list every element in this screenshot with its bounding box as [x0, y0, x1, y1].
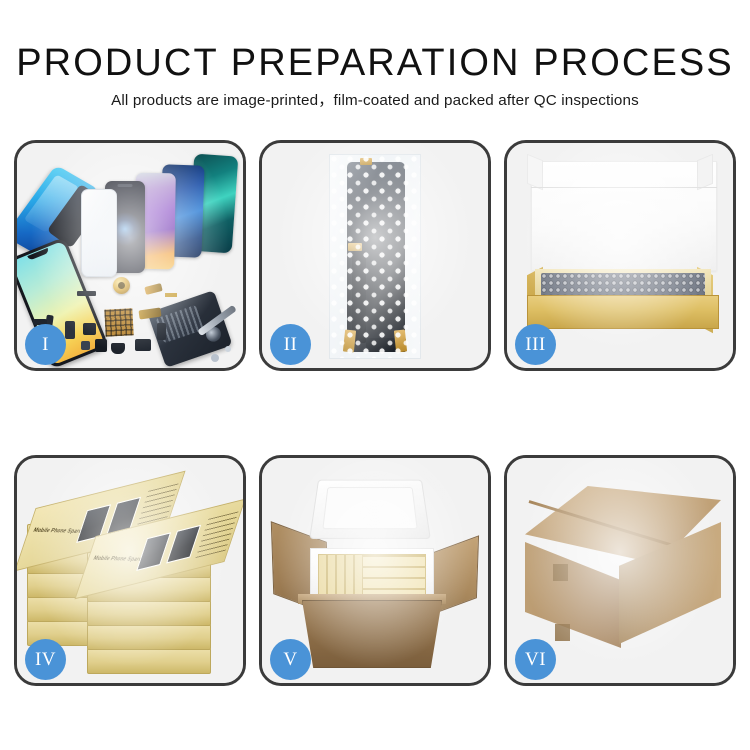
packed-retail-boxes — [318, 554, 426, 598]
retail-box — [87, 624, 211, 650]
box-lid-crease — [531, 187, 717, 188]
vibration-motor-part — [113, 277, 130, 294]
step-badge-2: II — [270, 324, 311, 365]
carton-tape-patch — [553, 564, 568, 581]
retail-box — [87, 648, 211, 674]
spare-part — [81, 341, 90, 350]
process-step-panel-6: VI — [504, 455, 736, 686]
step-badge-1: I — [25, 324, 66, 365]
carton-front-wall — [302, 600, 442, 668]
carton-tape-patch — [555, 624, 570, 641]
process-step-panel-4: Mobile Phone Spare Parts Mobile Phone Sp… — [14, 455, 246, 686]
process-step-panel-5: V — [259, 455, 491, 686]
box-lid-flap-left — [527, 154, 543, 190]
box-window-screen — [136, 532, 171, 571]
box-tray-front — [527, 295, 719, 329]
step-badge-4: IV — [25, 639, 66, 680]
phone-notch — [118, 184, 133, 187]
retail-box-group — [319, 555, 363, 598]
spare-part — [157, 323, 166, 340]
carton-left-face — [525, 542, 621, 648]
spare-part — [65, 321, 75, 339]
plastic-sheen — [330, 155, 420, 358]
box-lid-white — [531, 161, 717, 271]
spare-part — [83, 323, 96, 335]
retail-box — [87, 600, 211, 626]
bubble-wrap-bag — [329, 154, 421, 359]
process-step-panel-1: I — [14, 140, 246, 371]
spare-part — [111, 343, 125, 354]
step-badge-5: V — [270, 639, 311, 680]
foam-lid — [309, 480, 431, 539]
spare-part — [135, 339, 151, 351]
screw-part — [225, 346, 231, 352]
box-spec-lines — [195, 511, 238, 558]
spare-part — [165, 293, 177, 297]
page-title: PRODUCT PREPARATION PROCESS — [0, 42, 750, 85]
process-step-panel-2: II — [259, 140, 491, 371]
process-panel-grid: I II — [14, 140, 736, 686]
screw-part — [211, 354, 219, 362]
step-badge-6: VI — [515, 639, 556, 680]
step-badge-3: III — [515, 324, 556, 365]
retail-box-group — [363, 555, 425, 598]
process-step-panel-3: III — [504, 140, 736, 371]
spare-part — [77, 291, 96, 296]
header: PRODUCT PREPARATION PROCESS All products… — [0, 0, 750, 128]
page-subtitle: All products are image-printed，film-coat… — [0, 88, 750, 110]
spare-part — [144, 283, 162, 295]
grid-chip-part — [104, 308, 133, 336]
glass-protector-sheet — [81, 189, 117, 277]
spare-part — [95, 339, 107, 352]
